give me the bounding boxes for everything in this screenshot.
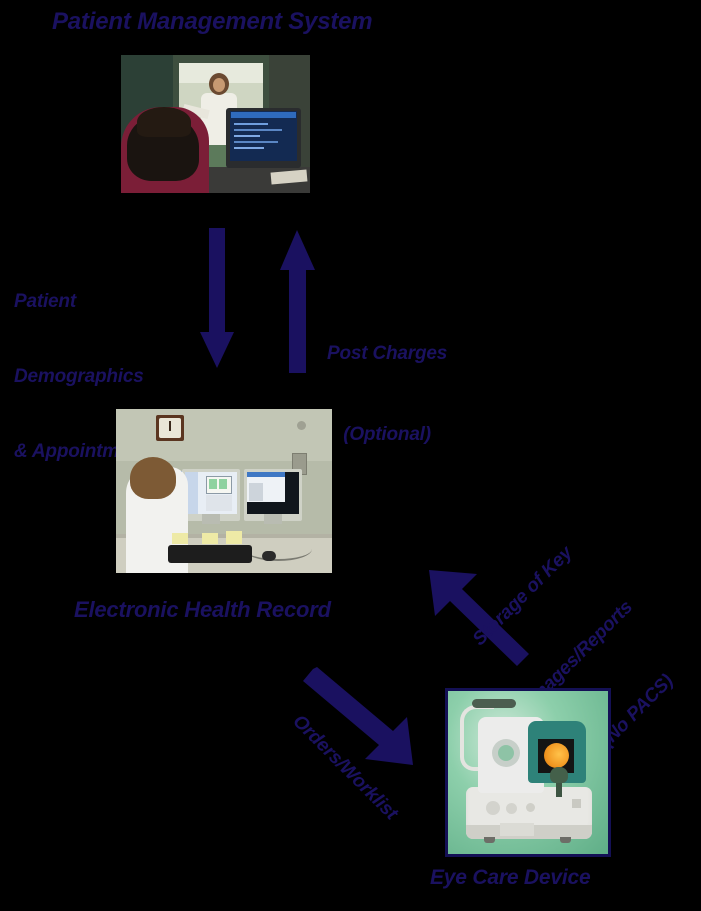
photo-monitor-stand — [264, 514, 282, 524]
photo-screen-line — [234, 147, 264, 149]
photo-sticky-note — [226, 531, 242, 544]
photo-screen-line — [234, 135, 260, 137]
photo-patient-hair-top — [137, 107, 191, 137]
photo-control-knob — [526, 803, 535, 812]
photo-monitor-stand — [202, 514, 220, 524]
photo-screen-thumb — [209, 479, 217, 489]
photo-screen-panel — [249, 483, 263, 501]
flow-label-orders: Orders/Worklist — [239, 662, 451, 874]
photo-device-foot — [484, 837, 495, 843]
photo-keyboard — [168, 545, 252, 563]
photo-smoke-detector — [297, 421, 306, 430]
flow-label-line2: Demographics — [14, 364, 157, 389]
photo-control-knob — [506, 803, 517, 814]
photo-sticky-note — [172, 533, 188, 544]
node-label-ehr: Electronic Health Record — [74, 597, 331, 622]
photo-cable — [244, 537, 312, 561]
photo-clinician-hair — [130, 457, 176, 499]
arrow-down-demographics — [196, 228, 240, 374]
photo-screen-line — [234, 141, 278, 143]
photo-joystick-knob — [550, 767, 568, 783]
photo-screen-line — [234, 123, 268, 125]
arrow-up-post-charges — [275, 228, 323, 376]
page-title: Patient Management System — [52, 8, 372, 36]
photo-device-handle — [472, 699, 516, 708]
photo-screen-thumb — [219, 479, 227, 489]
device-photo — [445, 688, 611, 857]
photo-staff-face — [213, 78, 225, 92]
photo-mouse — [262, 551, 276, 561]
flow-label-line1: Patient — [14, 289, 157, 314]
pms-photo — [121, 55, 310, 193]
photo-sticky-note — [202, 533, 218, 544]
photo-screen-titlebar — [247, 472, 285, 477]
flow-label-line1: Post Charges — [327, 340, 447, 367]
photo-screen-titlebar — [231, 112, 296, 118]
node-label-device: Eye Care Device — [430, 866, 590, 890]
photo-device-foot — [560, 837, 571, 843]
ehr-photo — [116, 409, 332, 573]
flow-label-line2: (Optional) — [327, 421, 447, 448]
photo-control-button — [572, 799, 581, 808]
photo-clock-hand — [169, 421, 171, 431]
photo-patient-body — [121, 107, 209, 193]
photo-screen-line — [234, 129, 282, 131]
photo-fundus-image — [544, 743, 569, 768]
photo-screen-rows — [206, 495, 232, 511]
photo-device-lens-inner — [498, 745, 514, 761]
diagram-canvas: Patient Management System Patient Demogr… — [0, 0, 701, 911]
photo-control-knob — [486, 801, 500, 815]
photo-device-panel — [500, 823, 534, 836]
flow-label-post-charges: Post Charges (Optional) — [327, 286, 447, 502]
